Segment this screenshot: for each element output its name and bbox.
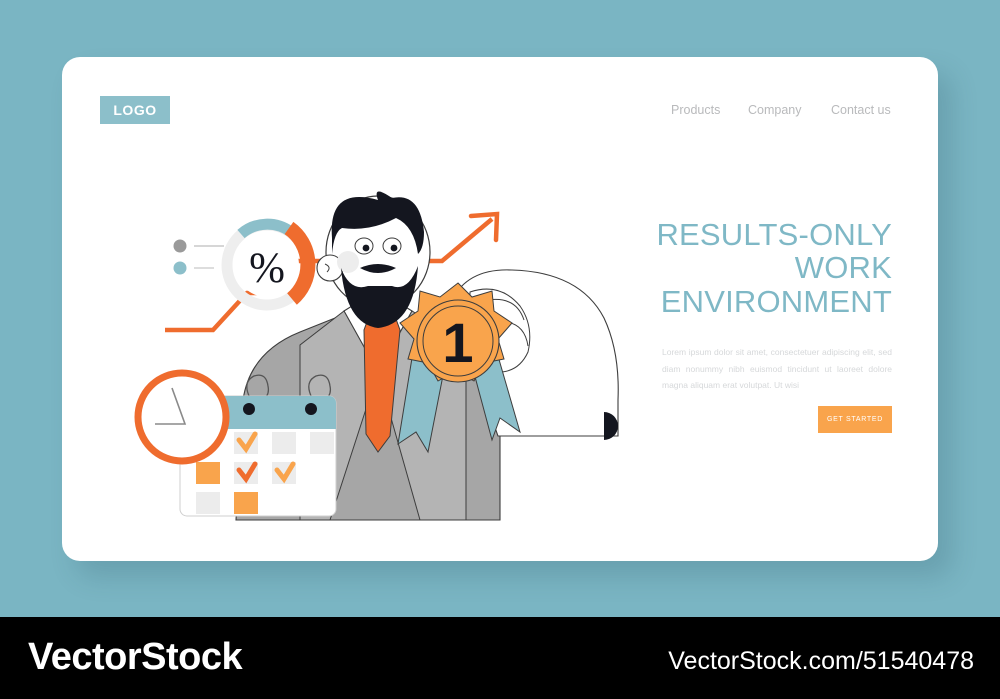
headline-line-3: ENVIRONMENT xyxy=(600,285,892,318)
logo-badge[interactable]: LOGO xyxy=(100,96,170,124)
nav-item-contact-us[interactable]: Contact us xyxy=(831,103,891,117)
logo-label: LOGO xyxy=(113,102,156,118)
hero-body-text: Lorem ipsum dolor sit amet, consectetuer… xyxy=(662,344,892,394)
headline-line-2: WORK xyxy=(600,251,892,284)
watermark-footer: VectorStock VectorStock.com/51540478 xyxy=(0,617,1000,699)
watermark-brand: VectorStock xyxy=(28,636,242,679)
headline-line-1: RESULTS-ONLY xyxy=(600,218,892,251)
nav-item-company[interactable]: Company xyxy=(748,103,802,117)
nav-item-products[interactable]: Products xyxy=(671,103,720,117)
get-started-button[interactable]: GET STARTED xyxy=(818,406,892,433)
watermark-url: VectorStock.com/51540478 xyxy=(668,647,974,676)
hero-headline: RESULTS-ONLY WORK ENVIRONMENT xyxy=(600,218,892,318)
screenshot-root: LOGO Products Company Contact us RESULTS… xyxy=(0,0,1000,699)
